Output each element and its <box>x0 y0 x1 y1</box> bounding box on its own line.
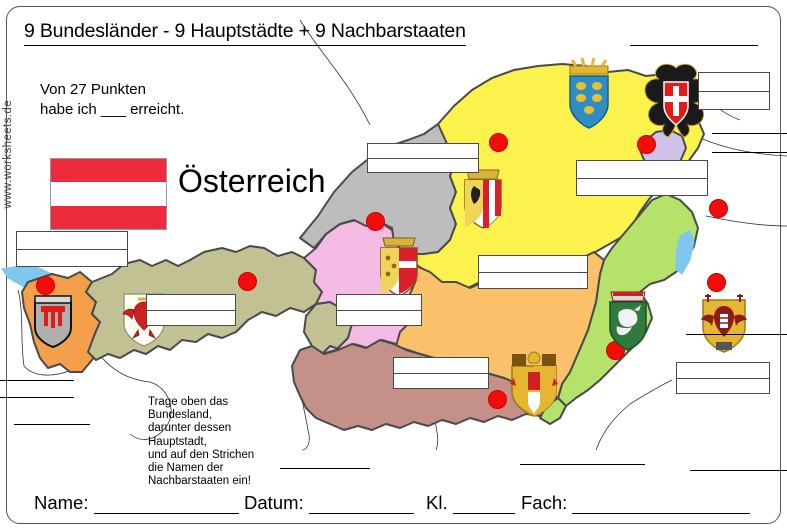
name-label: Name: <box>34 492 89 513</box>
neighbour-line-north[interactable] <box>630 45 758 46</box>
subject-field[interactable]: Fach: <box>521 492 750 514</box>
neighbour-line-southwest-2[interactable] <box>690 470 787 471</box>
label-box-burgenland[interactable] <box>676 362 770 394</box>
date-field[interactable]: Datum: <box>244 492 414 514</box>
class-input[interactable] <box>453 496 515 514</box>
capital-dot-oberoesterreich <box>489 133 508 152</box>
class-label: Kl. <box>426 492 448 513</box>
steiermark-coa <box>607 288 649 350</box>
instructions-text: Trage oben das Bundesland, darunter dess… <box>148 396 254 488</box>
worksheet-page: 9 Bundesländer - 9 Hauptstädte + 9 Nachb… <box>0 0 787 530</box>
neighbour-line-south[interactable] <box>520 464 645 465</box>
subject-label: Fach: <box>521 492 567 513</box>
footer-fields: Name: Datum: Kl. Fach: <box>26 488 761 514</box>
capital-dot-salzburg <box>366 212 385 231</box>
label-box-tirol[interactable] <box>146 294 236 326</box>
capital-dot-kaernten <box>488 390 507 409</box>
salzburg-coa <box>378 236 420 296</box>
capital-dot-wien <box>709 199 728 218</box>
name-input[interactable] <box>94 496 239 514</box>
name-field[interactable]: Name: <box>34 492 239 514</box>
label-box-oberoesterreich[interactable] <box>367 143 479 173</box>
class-field[interactable]: Kl. <box>426 492 515 514</box>
neighbour-line-east[interactable] <box>712 152 787 153</box>
subject-input[interactable] <box>572 496 750 514</box>
date-input[interactable] <box>309 496 414 514</box>
label-box-vorarlberg[interactable] <box>16 231 128 267</box>
neighbour-line-northeast[interactable] <box>712 133 787 134</box>
neighbour-line-southwest-1[interactable] <box>280 468 370 469</box>
neighbour-line-southeast[interactable] <box>686 334 787 335</box>
oberoesterreich-coa <box>462 166 504 228</box>
burgenland-coa <box>700 290 748 352</box>
label-box-wien[interactable] <box>698 72 770 110</box>
vorarlberg-coa <box>32 292 74 348</box>
date-label: Datum: <box>244 492 304 513</box>
label-box-salzburg[interactable] <box>336 294 422 326</box>
capital-dot-niederoesterreich <box>637 135 656 154</box>
neighbour-line-west-3[interactable] <box>14 424 90 425</box>
kaernten-coa <box>508 352 560 416</box>
label-box-niederoesterreich[interactable] <box>576 160 708 196</box>
niederoesterreich-coa <box>566 58 612 130</box>
label-box-steiermark[interactable] <box>478 255 588 289</box>
label-box-kaernten[interactable] <box>393 357 489 389</box>
neighbour-line-west-2[interactable] <box>0 397 74 398</box>
neighbour-line-west-1[interactable] <box>0 380 74 381</box>
capital-dot-tirol <box>238 272 257 291</box>
